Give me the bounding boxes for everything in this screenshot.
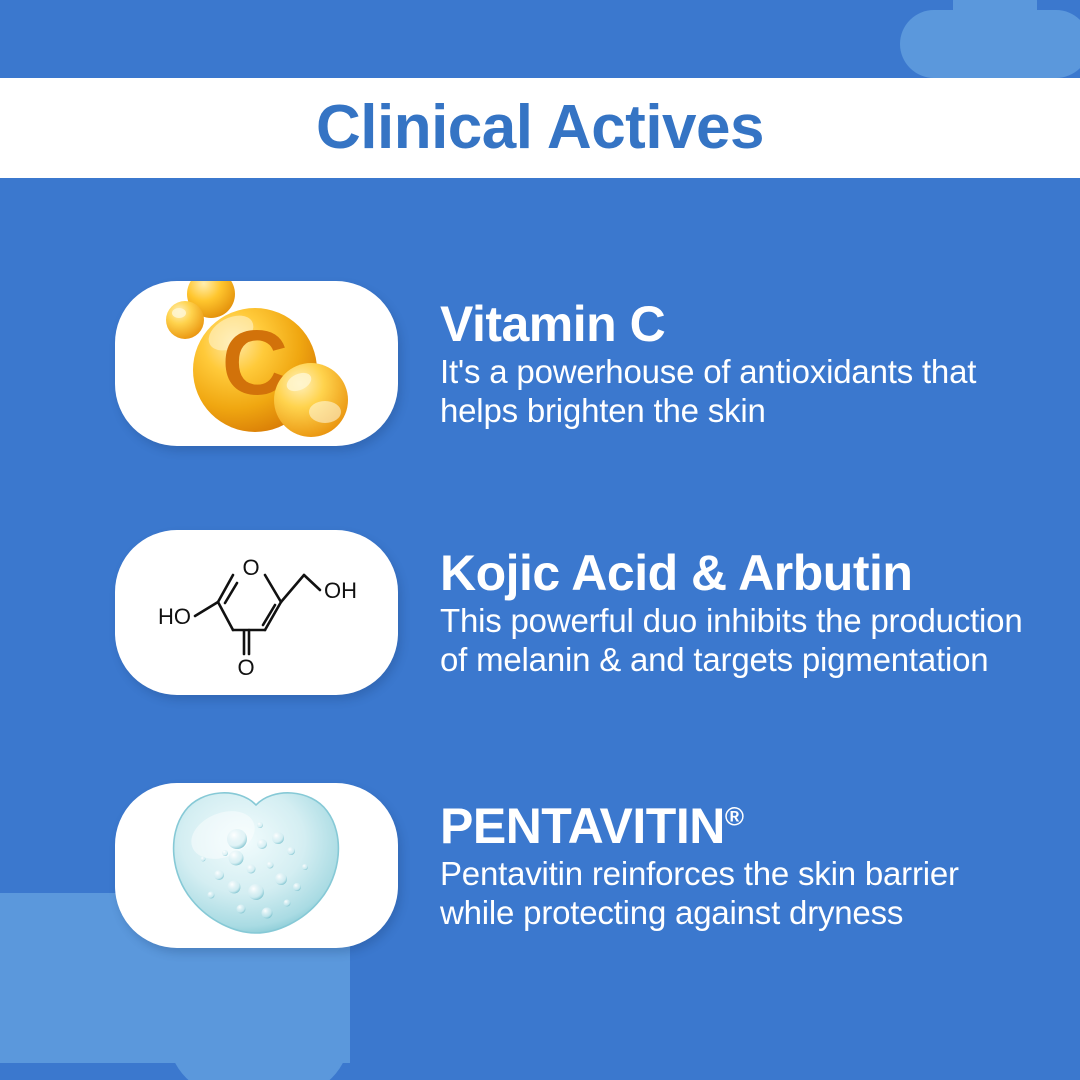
item-description: Pentavitin reinforces the skin barrier w…	[440, 855, 1050, 933]
pentavitin-thumbnail	[115, 783, 398, 948]
molecule-label-hydroxyl-right: OH	[324, 578, 357, 603]
kojic-acid-copy: Kojic Acid & Arbutin This powerful duo i…	[440, 546, 1080, 680]
item-heading: PENTAVITIN®	[440, 799, 1050, 853]
item-heading: Vitamin C	[440, 297, 1050, 351]
molecule-label-hydroxyl-left: HO	[158, 604, 191, 629]
top-right-blob-decoration	[953, 0, 1037, 78]
list-item: PENTAVITIN® Pentavitin reinforces the sk…	[0, 783, 1080, 948]
pentavitin-copy: PENTAVITIN® Pentavitin reinforces the sk…	[440, 799, 1080, 933]
vitamin-c-droplet-icon: C	[115, 281, 398, 446]
vitamin-c-copy: Vitamin C It's a powerhouse of antioxida…	[440, 297, 1080, 431]
hydrating-gel-blob-icon	[115, 783, 398, 948]
vitamin-c-thumbnail: C	[115, 281, 398, 446]
page-title: Clinical Actives	[316, 97, 764, 159]
list-item: C Vitamin C It's a powerhouse of antioxi…	[0, 281, 1080, 446]
list-item: O HO OH O Kojic Acid & Arbutin This powe…	[0, 530, 1080, 695]
registered-trademark-icon: ®	[725, 801, 744, 831]
item-description: It's a powerhouse of antioxidants that h…	[440, 353, 1050, 431]
item-description: This powerful duo inhibits the productio…	[440, 602, 1050, 680]
infographic-canvas: Clinical Actives	[0, 0, 1080, 1080]
kojic-acid-thumbnail: O HO OH O	[115, 530, 398, 695]
item-heading: Kojic Acid & Arbutin	[440, 546, 1050, 600]
actives-list: C Vitamin C It's a powerhouse of antioxi…	[0, 178, 1080, 1080]
molecule-label-ring-oxygen: O	[242, 555, 259, 580]
molecule-label-ketone-oxygen: O	[237, 655, 254, 680]
top-right-blob-decoration-bar	[900, 10, 1080, 78]
title-banner: Clinical Actives	[0, 78, 1080, 178]
kojic-acid-molecule-icon: O HO OH O	[115, 530, 398, 695]
